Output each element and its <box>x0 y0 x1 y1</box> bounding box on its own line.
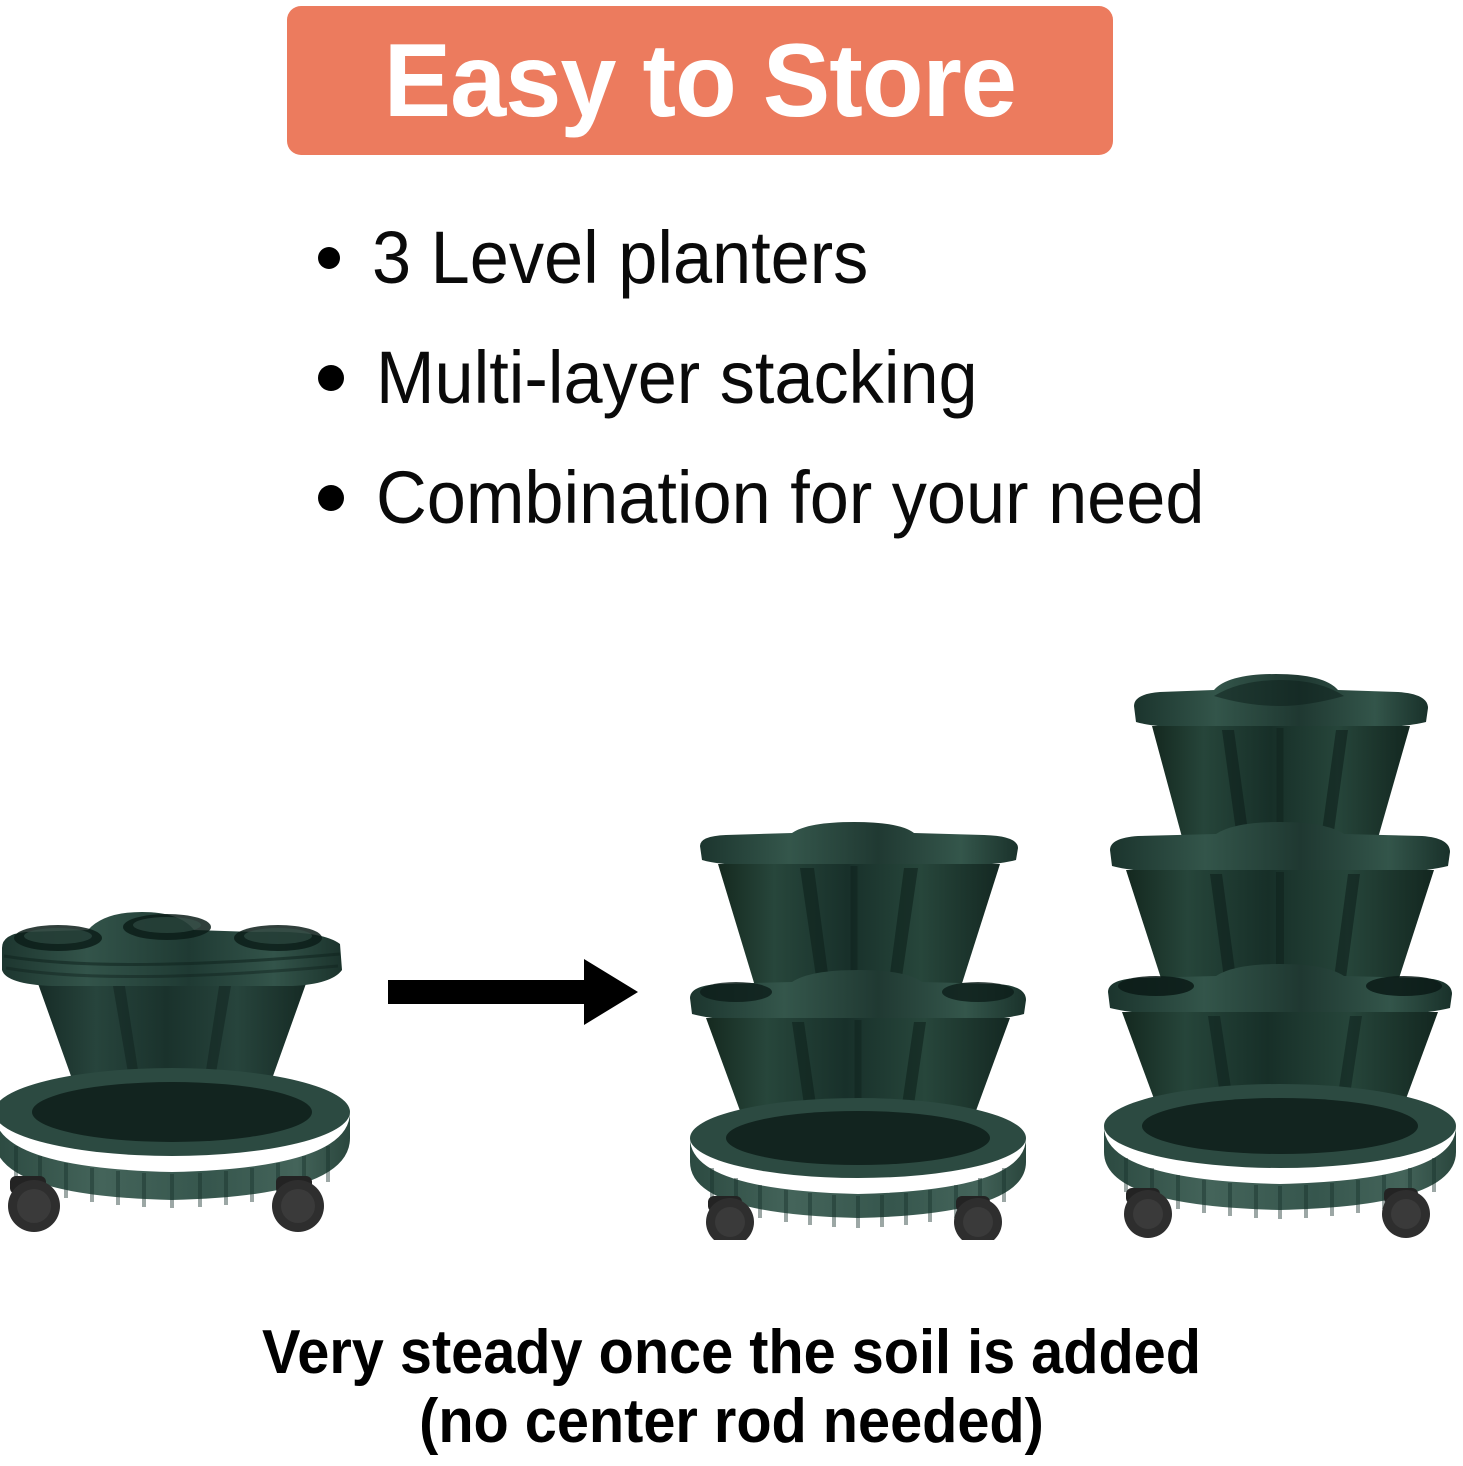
feature-list: 3 Level planters Multi-layer stacking Co… <box>318 198 1418 558</box>
feature-item-2: Multi-layer stacking <box>318 318 1418 438</box>
caption-line-1: Very steady once the soil is added <box>51 1318 1412 1387</box>
planter-opening <box>942 982 1014 1002</box>
caddy-tray-well <box>1142 1098 1418 1154</box>
right-arrow-icon <box>388 955 640 1029</box>
bottom-caption: Very steady once the soil is added (no c… <box>0 1318 1463 1457</box>
caster-wheel <box>1382 1188 1430 1238</box>
single-planter-graphic <box>0 900 352 1240</box>
planter-opening <box>1118 976 1194 996</box>
middle-planter-rim <box>1110 822 1450 878</box>
bullet-point-icon <box>318 485 344 511</box>
planter-opening-highlight <box>133 917 201 933</box>
page-title: Easy to Store <box>384 29 1016 133</box>
bullet-point-icon <box>318 365 344 391</box>
upper-planter-rim <box>700 822 1018 870</box>
feature-item-label: Combination for your need <box>376 461 1204 535</box>
single-tier-planter-on-caddy <box>0 900 352 1240</box>
planter-opening-highlight <box>244 928 312 944</box>
feature-item-3: Combination for your need <box>318 438 1418 558</box>
feature-item-label: Multi-layer stacking <box>376 341 978 415</box>
two-tier-planter-stack-on-caddy <box>688 820 1028 1240</box>
two-tier-planter-graphic <box>688 820 1028 1240</box>
feature-item-1: 3 Level planters <box>318 198 1418 318</box>
caption-line-2: (no center rod needed) <box>51 1387 1412 1456</box>
caster-wheel <box>272 1176 324 1232</box>
infographic-page: Easy to Store 3 Level planters Multi-lay… <box>0 0 1463 1466</box>
three-tier-planter-stack-on-caddy <box>1098 670 1460 1240</box>
planter-opening <box>1366 976 1442 996</box>
caddy-tray-well <box>32 1082 312 1142</box>
three-tier-planter-graphic <box>1098 670 1460 1240</box>
feature-item-label: 3 Level planters <box>372 221 868 295</box>
caddy-tray-well <box>726 1111 990 1165</box>
caster-wheel <box>954 1196 1002 1240</box>
bullet-point-icon <box>318 247 340 269</box>
planter-opening-highlight <box>24 928 92 944</box>
product-illustration-scene <box>0 600 1463 1240</box>
header-banner: Easy to Store <box>287 6 1113 155</box>
planter-opening <box>700 982 772 1002</box>
